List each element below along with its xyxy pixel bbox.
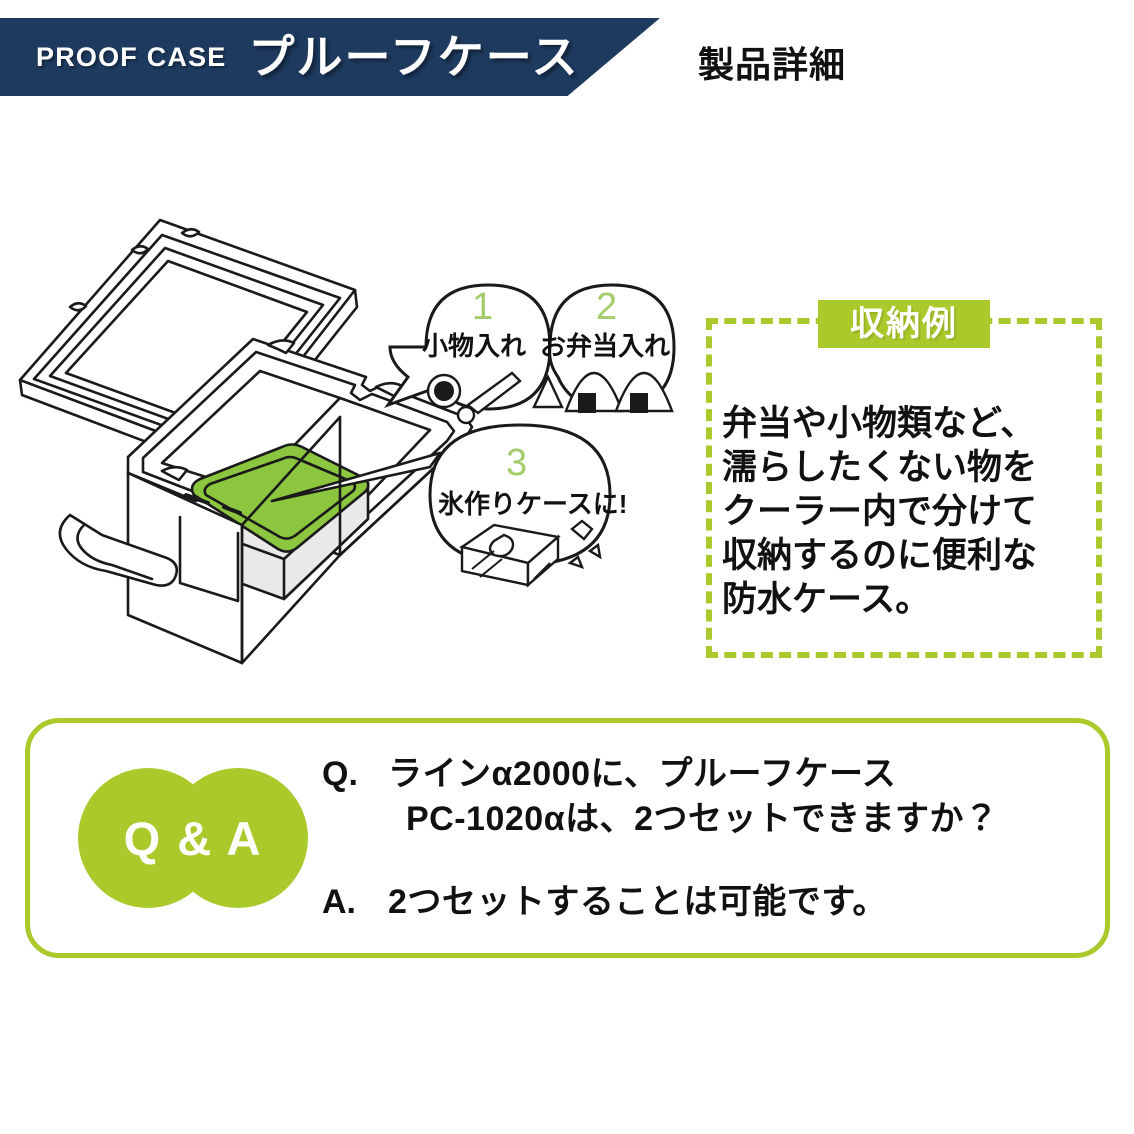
storage-text-line: 濡らしたくない物を: [722, 446, 1094, 490]
storage-text-line: 収納するのに便利な: [722, 534, 1094, 578]
svg-text:2: 2: [596, 286, 617, 328]
brand-name-jp: プルーフケース: [249, 34, 580, 80]
qa-answer-lines: 2つセットすることは可能です。: [388, 880, 1102, 925]
svg-text:小物入れ: 小物入れ: [422, 331, 526, 361]
qa-content: Q. ラインα2000に、プルーフケース PC-1020αは、2つセットできます…: [322, 752, 1102, 925]
storage-text-line: 防水ケース。: [722, 578, 1094, 622]
brand-name-en: PROOF CASE: [36, 42, 227, 73]
bubble-3: 3 氷作りケースに!: [430, 425, 627, 585]
qa-answer-row: A. 2つセットすることは可能です。: [322, 880, 1102, 925]
qa-answer-line: 2つセットすることは可能です。: [388, 880, 1102, 925]
qa-badge: Q & A: [78, 768, 308, 908]
qa-question-row: Q. ラインα2000に、プルーフケース PC-1020αは、2つセットできます…: [322, 752, 1102, 842]
storage-text-line: クーラー内で分けて: [722, 490, 1094, 534]
storage-example-tab: 収納例: [818, 300, 990, 348]
qa-question-lines: ラインα2000に、プルーフケース PC-1020αは、2つセットできますか？: [388, 752, 1102, 842]
page-title: 製品詳細: [698, 36, 846, 88]
header-banner: PROOF CASE プルーフケース: [0, 18, 660, 96]
storage-text-line: 弁当や小物類など、: [722, 402, 1094, 446]
product-illustration: 1 小物入れ 2 お弁当入れ 3 氷作りケースに!: [10, 195, 690, 665]
qa-badge-label: Q & A: [78, 768, 308, 908]
svg-text:氷作りケースに!: 氷作りケースに!: [438, 489, 627, 519]
qa-question-line: ラインα2000に、プルーフケース: [388, 752, 1102, 797]
svg-text:3: 3: [506, 442, 527, 484]
qa-question-line: PC-1020αは、2つセットできますか？: [388, 797, 1102, 842]
storage-example-text: 弁当や小物類など、 濡らしたくない物を クーラー内で分けて 収納するのに便利な …: [722, 378, 1094, 646]
svg-text:お弁当入れ: お弁当入れ: [540, 331, 670, 361]
bubble-2: 2 お弁当入れ: [534, 285, 674, 413]
cooler-box-illustration: 1 小物入れ 2 お弁当入れ 3 氷作りケースに!: [10, 195, 690, 665]
qa-answer-marker: A.: [322, 880, 388, 925]
qa-question-marker: Q.: [322, 752, 388, 797]
storage-example-tab-label: 収納例: [850, 307, 958, 341]
svg-text:1: 1: [472, 286, 493, 328]
